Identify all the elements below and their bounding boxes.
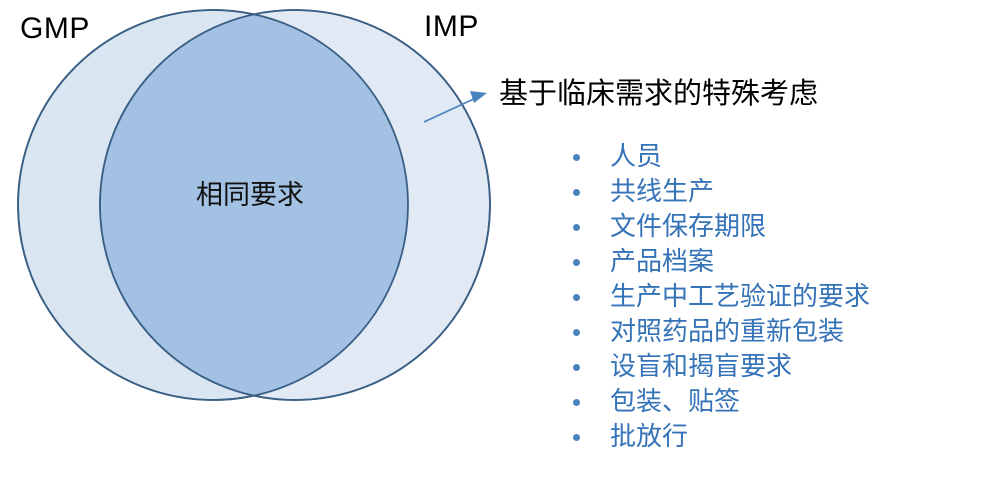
list-item-label: 对照药品的重新包装 [610, 316, 844, 346]
list-item: 人员 [568, 139, 870, 174]
venn-diagram [0, 0, 520, 420]
bullet-dot-icon [573, 294, 580, 301]
list-item-label: 批放行 [610, 421, 688, 451]
list-item-label: 设盲和揭盲要求 [610, 351, 792, 381]
bullet-dot-icon [573, 189, 580, 196]
list-item-label: 文件保存期限 [610, 211, 766, 241]
list-item: 文件保存期限 [568, 209, 870, 244]
slide-canvas: GMP IMP 相同要求 基于临床需求的特殊考虑 人员 共线生产 文件保存期限 … [0, 0, 999, 497]
list-item: 设盲和揭盲要求 [568, 349, 870, 384]
venn-overlap-label: 相同要求 [120, 182, 380, 209]
list-item: 批放行 [568, 419, 870, 454]
list-item-label: 产品档案 [610, 246, 714, 276]
list-item-label: 包装、贴签 [610, 386, 740, 416]
list-item: 共线生产 [568, 174, 870, 209]
bullet-dot-icon [573, 259, 580, 266]
callout-heading: 基于临床需求的特殊考虑 [499, 79, 818, 111]
venn-label-imp: IMP [424, 12, 479, 42]
list-item-label: 人员 [610, 141, 662, 171]
list-item: 对照药品的重新包装 [568, 314, 870, 349]
bullet-dot-icon [573, 329, 580, 336]
list-item-label: 生产中工艺验证的要求 [610, 281, 870, 311]
bullet-dot-icon [573, 434, 580, 441]
list-item: 包装、贴签 [568, 384, 870, 419]
bullet-dot-icon [573, 154, 580, 161]
bullet-dot-icon [573, 224, 580, 231]
list-item-label: 共线生产 [610, 176, 714, 206]
special-considerations-list: 人员 共线生产 文件保存期限 产品档案 生产中工艺验证的要求 对照药品的重新包装… [568, 139, 870, 454]
bullet-dot-icon [573, 399, 580, 406]
list-item: 产品档案 [568, 244, 870, 279]
venn-label-gmp: GMP [20, 14, 90, 44]
list-item: 生产中工艺验证的要求 [568, 279, 870, 314]
bullet-dot-icon [573, 364, 580, 371]
